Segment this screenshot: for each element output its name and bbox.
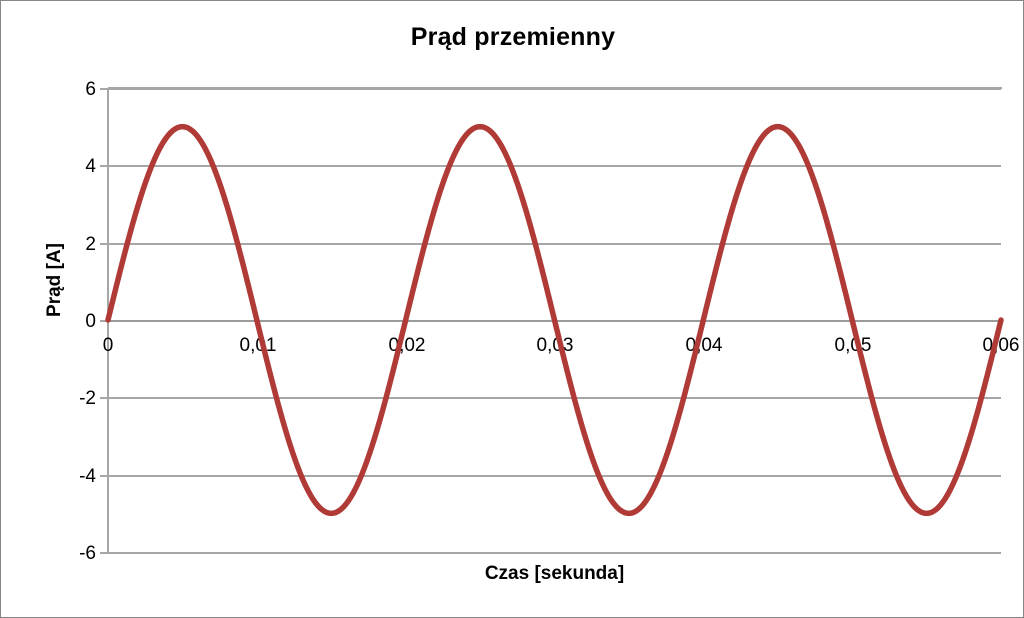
y-tick-label-text: -6 [79, 543, 96, 564]
y-tick-label-minus2: -2 [1, 388, 96, 410]
y-tick-label-text: 6 [85, 79, 96, 100]
gridline-minus6 [108, 552, 1001, 554]
y-tick-mark-2 [100, 243, 108, 245]
y-tick-label-text: -2 [79, 388, 96, 409]
y-tick-label-4: 4 [1, 156, 96, 178]
series-line [108, 88, 1001, 552]
y-tick-label-minus6: -6 [1, 543, 96, 565]
y-tick-mark-minus2 [100, 397, 108, 399]
y-tick-label-text: 4 [85, 156, 96, 177]
y-tick-mark-minus6 [100, 552, 108, 554]
chart-canvas: Prąd przemienny 6 4 2 0 -2 -4 -6 0 0,01 … [0, 0, 1024, 618]
y-axis-title: Prąd [A] [44, 220, 66, 340]
page-title: Prąd przemienny [1, 23, 1024, 52]
sine-curve-path [108, 127, 1001, 514]
x-axis-title: Czas [sekunda] [108, 563, 1001, 585]
y-tick-label-6: 6 [1, 79, 96, 101]
y-tick-label-text: -4 [79, 466, 96, 487]
y-tick-label-text: 0 [85, 311, 96, 332]
y-tick-label-text: 2 [85, 234, 96, 255]
y-tick-label-minus4: -4 [1, 466, 96, 488]
y-tick-mark-6 [100, 88, 108, 90]
y-tick-mark-4 [100, 165, 108, 167]
y-tick-mark-minus4 [100, 475, 108, 477]
